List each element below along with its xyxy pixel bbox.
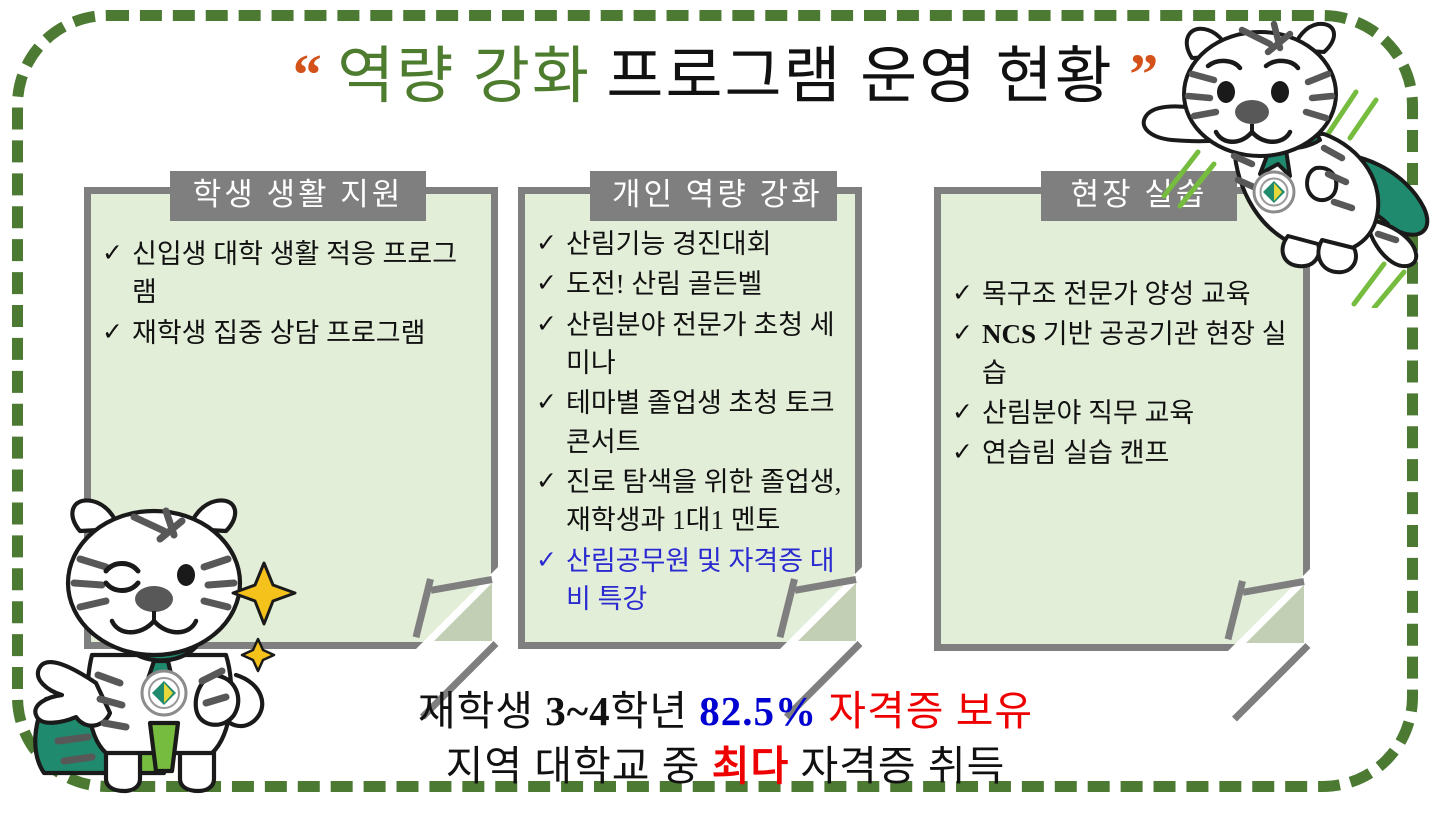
sparkle-icon — [233, 563, 295, 671]
list-item-label: 테마별 졸업생 초청 토크 콘서트 — [566, 384, 844, 461]
list-item: ✓ 도전! 산림 골든벨 — [536, 265, 844, 303]
infographic-canvas: “ 역량 강화 프로그램 운영 현황 ” ✓ 신입생 대학 생활 적응 프로그램… — [0, 0, 1451, 814]
check-icon: ✓ — [952, 394, 982, 432]
list-item: ✓ 산림분야 직무 교육 — [952, 394, 1292, 432]
check-icon: ✓ — [536, 265, 566, 303]
list-item-label: 신입생 대학 생활 적응 프로그램 — [132, 235, 480, 312]
university-emblem-icon — [1254, 172, 1294, 212]
list-item-label: 산림분야 전문가 초청 세미나 — [566, 306, 844, 383]
quote-open-mark: “ — [293, 42, 322, 107]
check-icon: ✓ — [952, 275, 982, 313]
check-icon: ✓ — [536, 542, 566, 580]
list-item: ✓ 테마별 졸업생 초청 토크 콘서트 — [536, 384, 844, 461]
summary-line2-suffix: 자격증 취득 — [789, 743, 1005, 789]
list-item: ✓ 연습림 실습 캔프 — [952, 434, 1292, 472]
card-individual-capacity: ✓ 산림기능 경진대회 ✓ 도전! 산림 골든벨 ✓ 산림분야 전문가 초청 세… — [518, 187, 862, 649]
summary-percentage: 82.5% — [699, 688, 817, 734]
list-item-label: 도전! 산림 골든벨 — [566, 265, 844, 303]
list-item: ✓ 신입생 대학 생활 적응 프로그램 — [102, 235, 480, 312]
list-item: ✓ 산림기능 경진대회 — [536, 225, 844, 263]
list-item-label: 산림분야 직무 교육 — [982, 394, 1292, 432]
page-title-rest: 프로그램 운영 현황 — [606, 43, 1113, 111]
check-icon: ✓ — [952, 315, 982, 353]
card-item-list: ✓ 산림기능 경진대회 ✓ 도전! 산림 골든벨 ✓ 산림분야 전문가 초청 세… — [536, 225, 844, 620]
list-item-highlighted: ✓ 산림공무원 및 자격증 대비 특강 — [536, 542, 844, 619]
summary-line1-prefix: 재학생 — [418, 688, 545, 734]
summary-line2-highlight: 최다 — [712, 743, 789, 789]
check-icon: ✓ — [102, 314, 132, 352]
tiger-mascot-pointing-icon — [14, 487, 314, 805]
list-item: ✓ 진로 탐색을 위한 졸업생, 재학생과 1대1 멘토 — [536, 463, 844, 540]
list-item: ✓ 산림분야 전문가 초청 세미나 — [536, 306, 844, 383]
check-icon: ✓ — [102, 235, 132, 273]
list-item-label: 연습림 실습 캔프 — [982, 434, 1292, 472]
list-item: ✓ 재학생 집중 상담 프로그램 — [102, 314, 480, 352]
check-icon: ✓ — [536, 463, 566, 501]
list-item-label: 산림기능 경진대회 — [566, 225, 844, 263]
tiger-mascot-flying-icon — [1138, 8, 1451, 308]
list-item-label: NCS 기반 공공기관 현장 실습 — [982, 315, 1292, 392]
check-icon: ✓ — [536, 306, 566, 344]
check-icon: ✓ — [536, 225, 566, 263]
list-item-label: 산림공무원 및 자격증 대비 특강 — [566, 542, 844, 619]
check-icon: ✓ — [536, 384, 566, 422]
card-title-tab-individual-capacity: 개인 역량 강화 — [590, 171, 837, 221]
summary-line2-prefix: 지역 대학교 중 — [446, 743, 712, 789]
summary-line1-grade-suffix: 학년 — [611, 688, 700, 734]
list-item-label-bold: NCS — [982, 319, 1036, 349]
card-title-tab-student-life-support: 학생 생활 지원 — [170, 171, 426, 221]
check-icon: ✓ — [952, 434, 982, 472]
university-emblem-icon — [142, 671, 186, 715]
summary-line1-grade: 3~4 — [545, 688, 610, 734]
list-item: ✓ NCS 기반 공공기관 현장 실습 — [952, 315, 1292, 392]
summary-line1-highlight: 자격증 보유 — [828, 688, 1033, 734]
page-title-highlight: 역량 강화 — [337, 43, 591, 111]
list-item-label: 재학생 집중 상담 프로그램 — [132, 314, 480, 352]
card-item-list: ✓ 신입생 대학 생활 적응 프로그램 ✓ 재학생 집중 상담 프로그램 — [102, 235, 480, 354]
list-item-label: 진로 탐색을 위한 졸업생, 재학생과 1대1 멘토 — [566, 463, 844, 540]
